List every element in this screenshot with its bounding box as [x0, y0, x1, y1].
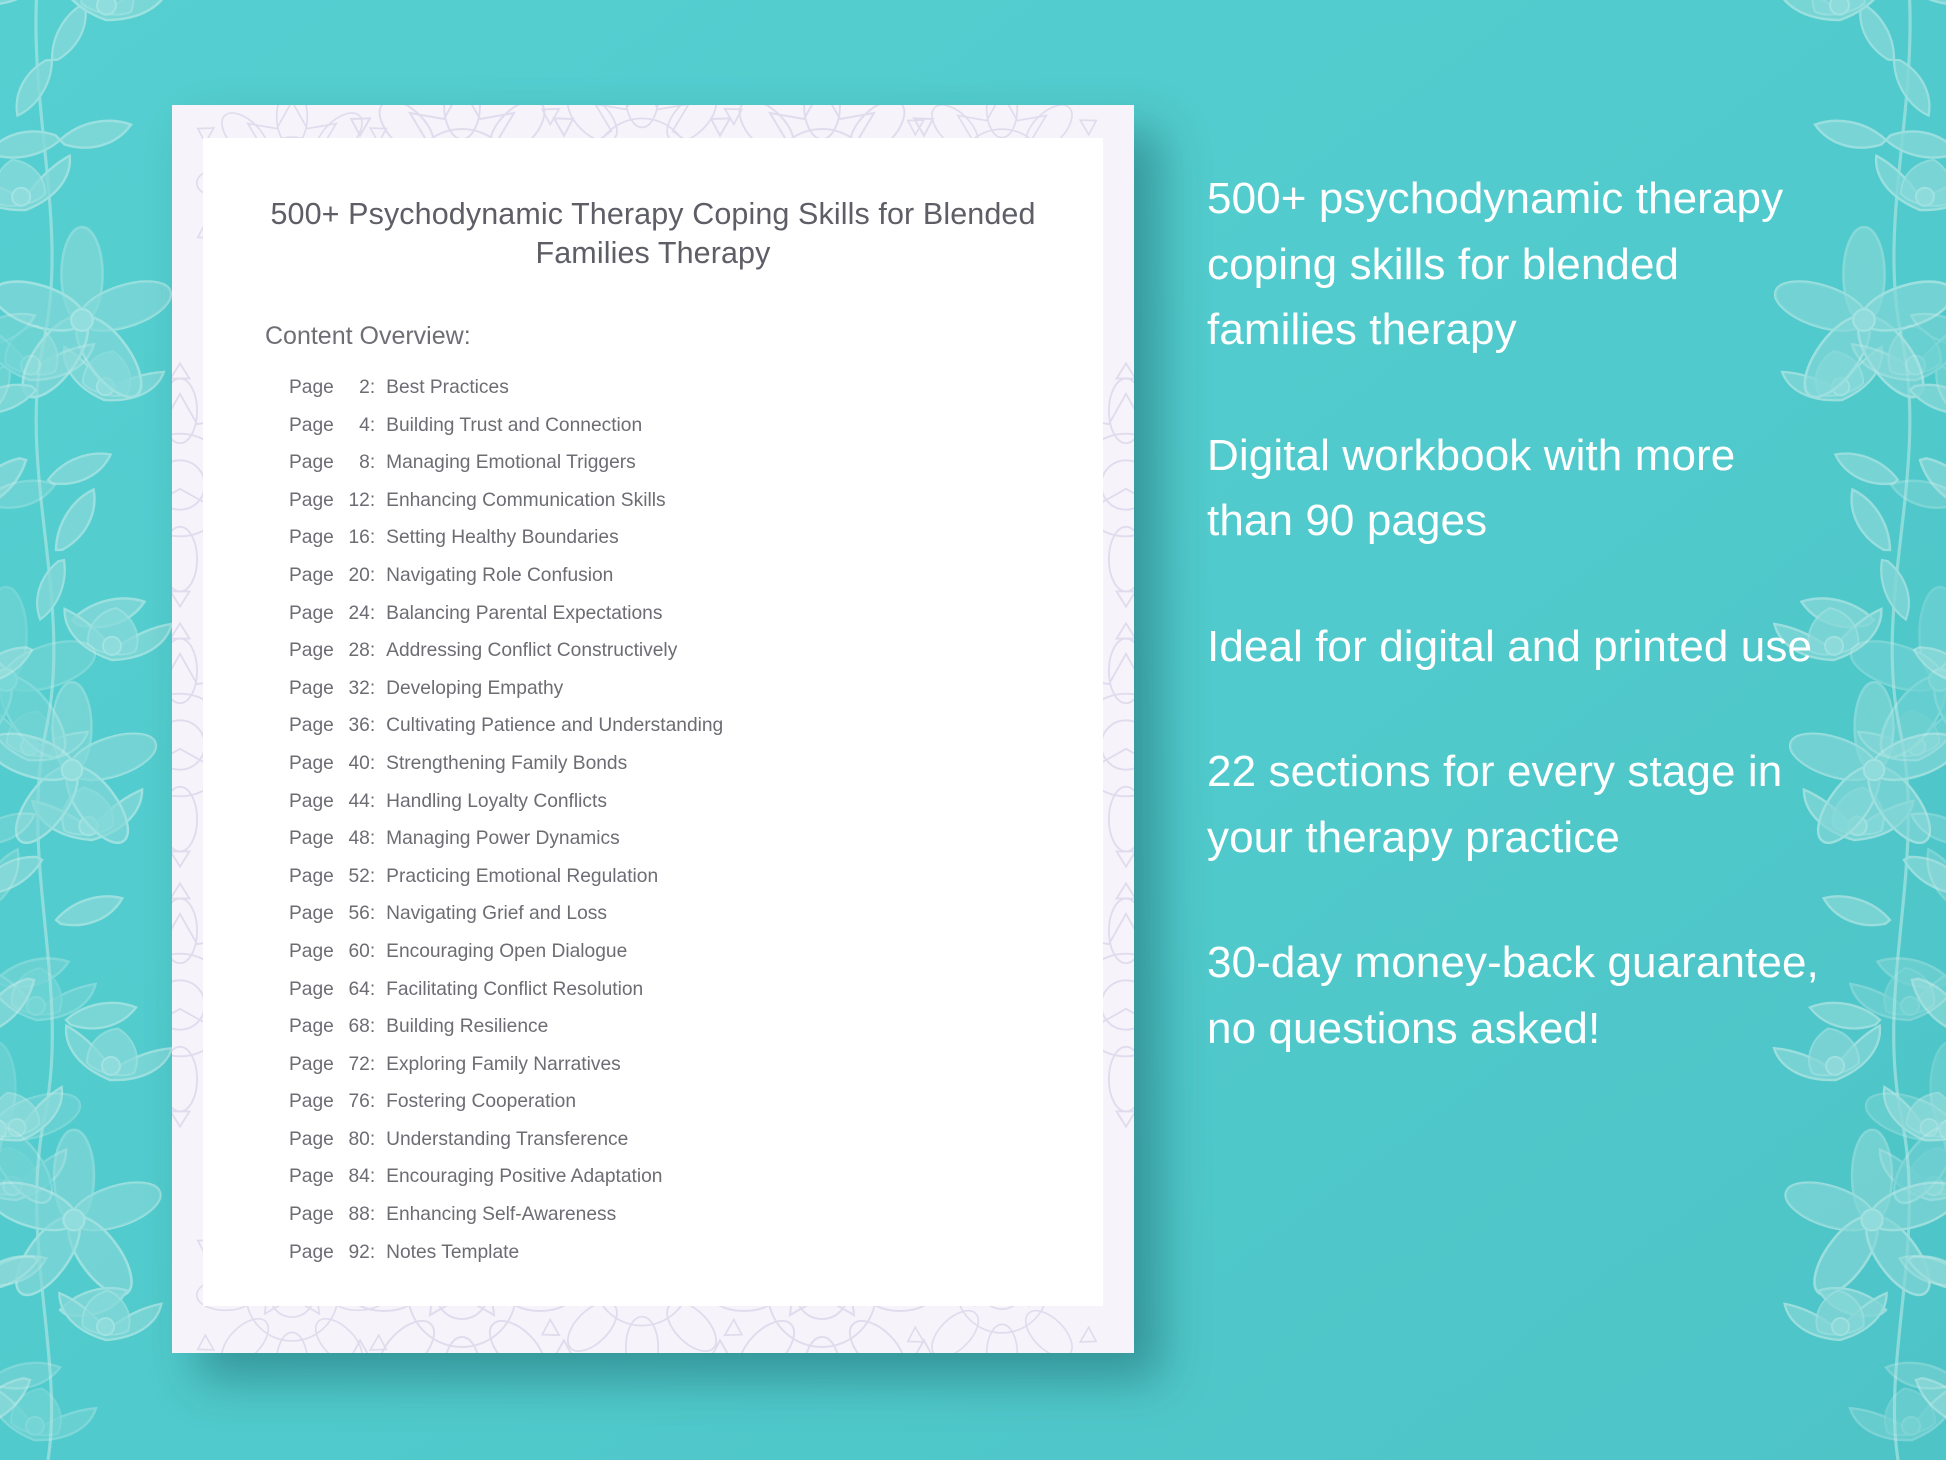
- toc-entry: Page56:Navigating Grief and Loss: [203, 903, 1103, 941]
- toc-colon: :: [370, 678, 375, 700]
- toc-page-word: Page: [289, 1091, 334, 1113]
- toc-colon: :: [370, 1204, 375, 1226]
- toc-entry: Page24:Balancing Parental Expectations: [203, 603, 1103, 641]
- toc-page-number: 64: [340, 979, 370, 1001]
- toc-entry: Page72:Exploring Family Narratives: [203, 1054, 1103, 1092]
- toc-entry: Page76:Fostering Cooperation: [203, 1091, 1103, 1129]
- toc-section-title: Managing Emotional Triggers: [386, 452, 636, 474]
- toc-page-number: 32: [340, 678, 370, 700]
- toc-section-title: Enhancing Self-Awareness: [386, 1204, 616, 1226]
- toc-page-word: Page: [289, 603, 334, 625]
- toc-page-word: Page: [289, 866, 334, 888]
- toc-section-title: Building Resilience: [386, 1016, 548, 1038]
- toc-colon: :: [370, 1166, 375, 1188]
- toc-colon: :: [370, 753, 375, 775]
- toc-page-word: Page: [289, 1166, 334, 1188]
- toc-entry: Page60:Encouraging Open Dialogue: [203, 941, 1103, 979]
- toc-page-number: 8: [340, 452, 370, 474]
- toc-colon: :: [370, 828, 375, 850]
- toc-page-word: Page: [289, 415, 334, 437]
- marketing-bullet: 22 sections for every stage in your ther…: [1207, 739, 1827, 870]
- toc-page-word: Page: [289, 1129, 334, 1151]
- toc-colon: :: [370, 1091, 375, 1113]
- toc-page-number: 68: [340, 1016, 370, 1038]
- toc-page-number: 52: [340, 866, 370, 888]
- toc-entry: Page8:Managing Emotional Triggers: [203, 452, 1103, 490]
- marketing-bullet: 30-day money-back guarantee, no question…: [1207, 930, 1827, 1061]
- marketing-copy-column: 500+ psychodynamic therapy coping skills…: [1207, 166, 1827, 1061]
- toc-section-title: Practicing Emotional Regulation: [386, 866, 658, 888]
- toc-page-number: 2: [340, 377, 370, 399]
- toc-page-word: Page: [289, 640, 334, 662]
- content-overview-label: Content Overview:: [203, 273, 1103, 351]
- toc-section-title: Encouraging Open Dialogue: [386, 941, 627, 963]
- toc-page-word: Page: [289, 753, 334, 775]
- toc-page-number: 72: [340, 1054, 370, 1076]
- toc-page-number: 76: [340, 1091, 370, 1113]
- workbook-page-sheet: 500+ Psychodynamic Therapy Coping Skills…: [203, 138, 1103, 1306]
- toc-section-title: Strengthening Family Bonds: [386, 753, 627, 775]
- toc-page-word: Page: [289, 828, 334, 850]
- toc-colon: :: [370, 490, 375, 512]
- toc-page-word: Page: [289, 791, 334, 813]
- toc-page-word: Page: [289, 1242, 334, 1264]
- toc-entry: Page44:Handling Loyalty Conflicts: [203, 791, 1103, 829]
- toc-page-word: Page: [289, 1204, 334, 1226]
- toc-colon: :: [370, 1054, 375, 1076]
- toc-page-number: 48: [340, 828, 370, 850]
- marketing-bullet: Digital workbook with more than 90 pages: [1207, 423, 1827, 554]
- toc-entry: Page36:Cultivating Patience and Understa…: [203, 715, 1103, 753]
- toc-page-word: Page: [289, 452, 334, 474]
- toc-colon: :: [370, 527, 375, 549]
- toc-entry: Page88:Enhancing Self-Awareness: [203, 1204, 1103, 1242]
- toc-colon: :: [370, 791, 375, 813]
- toc-page-word: Page: [289, 678, 334, 700]
- toc-colon: :: [370, 1129, 375, 1151]
- toc-page-number: 92: [340, 1242, 370, 1264]
- toc-entry: Page68:Building Resilience: [203, 1016, 1103, 1054]
- toc-colon: :: [370, 1016, 375, 1038]
- toc-entry: Page16:Setting Healthy Boundaries: [203, 527, 1103, 565]
- toc-entry: Page32:Developing Empathy: [203, 678, 1103, 716]
- toc-entry: Page28:Addressing Conflict Constructivel…: [203, 640, 1103, 678]
- toc-page-number: 28: [340, 640, 370, 662]
- page-title: 500+ Psychodynamic Therapy Coping Skills…: [203, 138, 1103, 273]
- toc-section-title: Navigating Role Confusion: [386, 565, 613, 587]
- toc-section-title: Facilitating Conflict Resolution: [386, 979, 643, 1001]
- toc-entry: Page92:Notes Template: [203, 1242, 1103, 1280]
- toc-section-title: Exploring Family Narratives: [386, 1054, 621, 1076]
- marketing-bullet: Ideal for digital and printed use: [1207, 614, 1827, 680]
- toc-colon: :: [370, 603, 375, 625]
- toc-entry: Page84:Encouraging Positive Adaptation: [203, 1166, 1103, 1204]
- toc-colon: :: [370, 715, 375, 737]
- toc-page-word: Page: [289, 903, 334, 925]
- toc-page-number: 40: [340, 753, 370, 775]
- toc-page-word: Page: [289, 715, 334, 737]
- toc-colon: :: [370, 866, 375, 888]
- workbook-preview-card: 500+ Psychodynamic Therapy Coping Skills…: [172, 105, 1134, 1353]
- toc-section-title: Balancing Parental Expectations: [386, 603, 662, 625]
- toc-page-number: 56: [340, 903, 370, 925]
- toc-page-word: Page: [289, 490, 334, 512]
- toc-section-title: Enhancing Communication Skills: [386, 490, 665, 512]
- toc-page-word: Page: [289, 377, 334, 399]
- toc-entry: Page20:Navigating Role Confusion: [203, 565, 1103, 603]
- toc-page-word: Page: [289, 941, 334, 963]
- toc-page-number: 36: [340, 715, 370, 737]
- toc-page-number: 80: [340, 1129, 370, 1151]
- toc-entry: Page64:Facilitating Conflict Resolution: [203, 979, 1103, 1017]
- toc-entry: Page48:Managing Power Dynamics: [203, 828, 1103, 866]
- toc-colon: :: [370, 941, 375, 963]
- toc-section-title: Notes Template: [386, 1242, 519, 1264]
- toc-page-word: Page: [289, 979, 334, 1001]
- toc-page-number: 12: [340, 490, 370, 512]
- toc-section-title: Managing Power Dynamics: [386, 828, 620, 850]
- toc-entry: Page52:Practicing Emotional Regulation: [203, 866, 1103, 904]
- toc-page-number: 20: [340, 565, 370, 587]
- toc-page-number: 4: [340, 415, 370, 437]
- toc-colon: :: [370, 452, 375, 474]
- toc-section-title: Encouraging Positive Adaptation: [386, 1166, 662, 1188]
- toc-section-title: Handling Loyalty Conflicts: [386, 791, 607, 813]
- toc-entry: Page40:Strengthening Family Bonds: [203, 753, 1103, 791]
- toc-colon: :: [370, 377, 375, 399]
- toc-section-title: Fostering Cooperation: [386, 1091, 576, 1113]
- toc-colon: :: [370, 979, 375, 1001]
- toc-page-word: Page: [289, 565, 334, 587]
- toc-section-title: Navigating Grief and Loss: [386, 903, 607, 925]
- toc-entry: Page2:Best Practices: [203, 377, 1103, 415]
- toc-page-number: 84: [340, 1166, 370, 1188]
- toc-entry: Page12:Enhancing Communication Skills: [203, 490, 1103, 528]
- toc-page-word: Page: [289, 1016, 334, 1038]
- toc-entry: Page80:Understanding Transference: [203, 1129, 1103, 1167]
- toc-colon: :: [370, 1242, 375, 1264]
- marketing-bullet: 500+ psychodynamic therapy coping skills…: [1207, 166, 1827, 363]
- toc-colon: :: [370, 415, 375, 437]
- toc-section-title: Best Practices: [386, 377, 509, 399]
- table-of-contents: Page2:Best PracticesPage4:Building Trust…: [203, 351, 1103, 1279]
- toc-section-title: Setting Healthy Boundaries: [386, 527, 619, 549]
- toc-page-number: 44: [340, 791, 370, 813]
- toc-page-number: 60: [340, 941, 370, 963]
- toc-page-number: 88: [340, 1204, 370, 1226]
- toc-page-word: Page: [289, 1054, 334, 1076]
- toc-colon: :: [370, 640, 375, 662]
- toc-section-title: Cultivating Patience and Understanding: [386, 715, 723, 737]
- toc-section-title: Building Trust and Connection: [386, 415, 642, 437]
- toc-colon: :: [370, 903, 375, 925]
- toc-page-number: 24: [340, 603, 370, 625]
- toc-entry: Page4:Building Trust and Connection: [203, 415, 1103, 453]
- toc-colon: :: [370, 565, 375, 587]
- toc-page-number: 16: [340, 527, 370, 549]
- toc-page-word: Page: [289, 527, 334, 549]
- toc-section-title: Developing Empathy: [386, 678, 563, 700]
- toc-section-title: Understanding Transference: [386, 1129, 628, 1151]
- toc-section-title: Addressing Conflict Constructively: [386, 640, 677, 662]
